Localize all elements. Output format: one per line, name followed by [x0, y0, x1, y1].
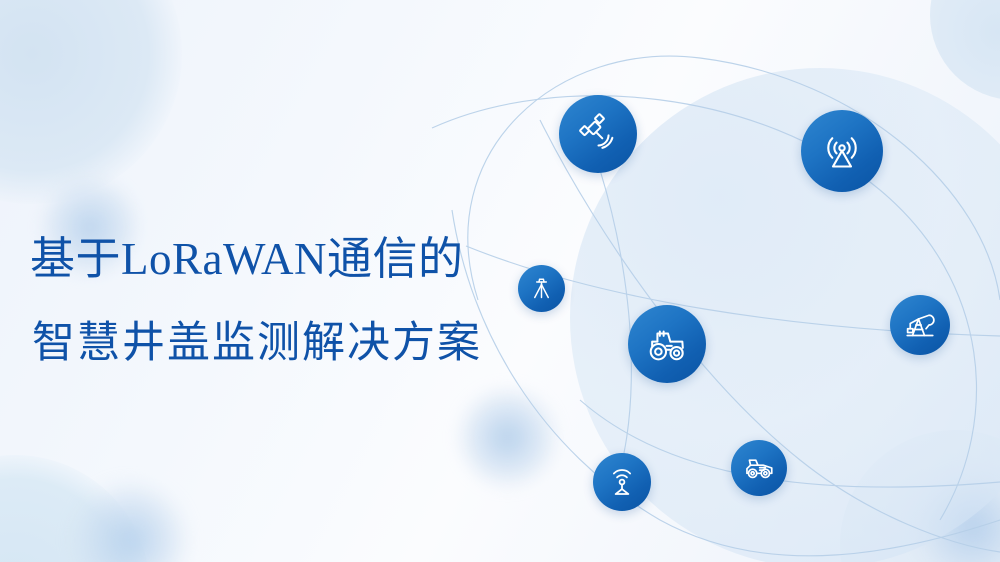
- oil-pumpjack-icon: [902, 307, 938, 343]
- background-blob-bottom-left-2: [70, 480, 190, 562]
- background-blob-bottom-right-2: [915, 470, 1000, 562]
- radio-tower-icon: [818, 127, 866, 175]
- slide-canvas: 基于LoRaWAN通信的 智慧井盖监测解决方案: [0, 0, 1000, 562]
- node-tractor[interactable]: [628, 305, 706, 383]
- background-blob-bottom-right: [840, 430, 1000, 562]
- page-title: 基于LoRaWAN通信的 智慧井盖监测解决方案: [30, 228, 550, 374]
- title-line-2: 智慧井盖监测解决方案: [32, 312, 550, 374]
- node-satellite[interactable]: [559, 95, 637, 173]
- title-line-1: 基于LoRaWAN通信的: [30, 228, 550, 290]
- background-blob-bottom-left: [0, 455, 150, 562]
- node-radio-tower[interactable]: [801, 110, 883, 192]
- background-blob-top-right: [930, 0, 1000, 100]
- background-blob-center-bottom: [455, 385, 560, 490]
- node-signal-beacon[interactable]: [593, 453, 651, 511]
- haul-vehicle-icon: [742, 451, 776, 485]
- satellite-icon: [575, 111, 621, 157]
- node-haul-vehicle[interactable]: [731, 440, 787, 496]
- tractor-icon: [644, 321, 690, 367]
- node-oil-pumpjack[interactable]: [890, 295, 950, 355]
- orbit-arc-6: [600, 170, 631, 500]
- signal-beacon-icon: [605, 465, 639, 499]
- node-survey-tripod[interactable]: [518, 265, 565, 312]
- background-blob-top-left: [0, 0, 182, 204]
- survey-tripod-icon: [528, 275, 555, 302]
